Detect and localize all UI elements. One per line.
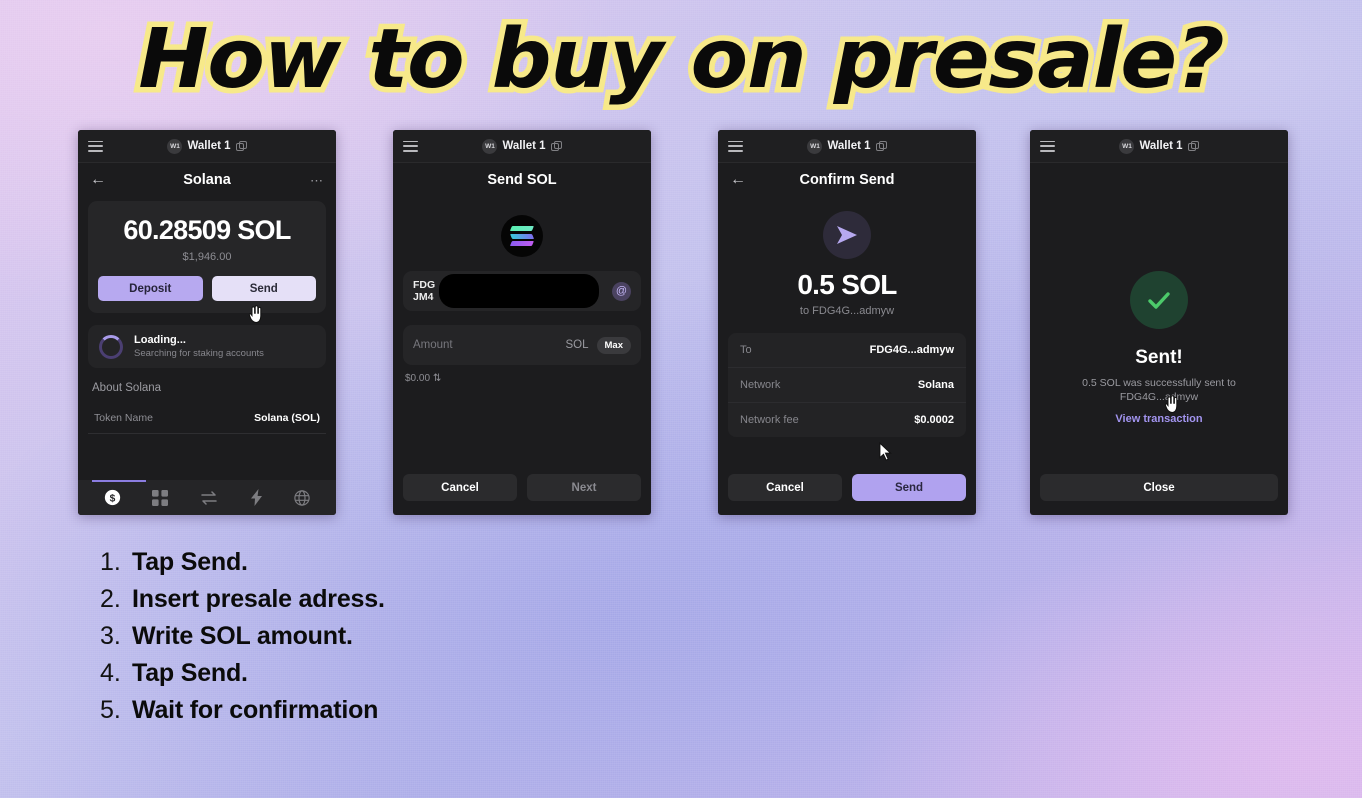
bottom-actions: Close — [1040, 474, 1278, 501]
list-item: 1. Tap Send. — [100, 548, 385, 577]
wallet-name: Wallet 1 — [502, 140, 545, 152]
detail-value: $0.0002 — [914, 414, 954, 426]
step-number: 2. — [100, 585, 132, 614]
wallet-app-bar: W1 Wallet 1 — [1030, 130, 1288, 163]
page-title: How to buy on presale? — [0, 14, 1362, 106]
wallet-name: Wallet 1 — [187, 140, 230, 152]
detail-key: Network fee — [740, 414, 799, 426]
step-text: Tap Send. — [132, 659, 248, 688]
wallet-identity: W1 Wallet 1 — [1030, 139, 1288, 154]
token-name-key: Token Name — [94, 412, 153, 424]
next-button[interactable]: Next — [527, 474, 641, 501]
list-item: 3. Write SOL amount. — [100, 622, 385, 651]
step-number: 5. — [100, 696, 132, 725]
detail-value: FDG4G...admyw — [870, 344, 954, 356]
at-icon[interactable]: @ — [612, 282, 631, 301]
step-text: Tap Send. — [132, 548, 248, 577]
step-text: Wait for confirmation — [132, 696, 378, 725]
swap-vertical-icon[interactable]: ⇅ — [433, 373, 441, 384]
recipient-address-value: FDG JM4 — [413, 279, 435, 303]
globe-icon[interactable] — [294, 490, 310, 506]
bottom-tab-bar: $ — [78, 480, 336, 515]
wallet-badge: W1 — [807, 139, 822, 154]
wallet-badge: W1 — [482, 139, 497, 154]
balance-fiat: $1,946.00 — [98, 251, 316, 263]
screen-sent-success: W1 Wallet 1 Sent! 0.5 SOL was successful… — [1030, 130, 1288, 515]
send-button[interactable]: Send — [212, 276, 317, 301]
amount-fiat-preview: $0.00 ⇅ — [405, 373, 651, 384]
wallet-app-bar: W1 Wallet 1 — [718, 130, 976, 163]
action-buttons: Deposit Send — [98, 276, 316, 301]
wallet-badge: W1 — [167, 139, 182, 154]
token-name-value: Solana (SOL) — [254, 412, 320, 424]
wallet-name: Wallet 1 — [827, 140, 870, 152]
swap-icon[interactable] — [200, 490, 218, 506]
screen-confirm-send: W1 Wallet 1 ← Confirm Send 0.5 SOL to FD… — [718, 130, 976, 515]
copy-icon[interactable] — [236, 141, 247, 152]
detail-key: To — [740, 344, 752, 356]
back-arrow-icon[interactable]: ← — [730, 172, 746, 188]
wallet-app-bar: W1 Wallet 1 — [78, 130, 336, 163]
amount-field[interactable]: Amount SOL Max — [403, 325, 641, 365]
hamburger-icon[interactable] — [1040, 141, 1055, 152]
step-number: 3. — [100, 622, 132, 651]
about-section-title: About Solana — [92, 382, 336, 394]
dollar-circle-icon[interactable]: $ — [104, 489, 121, 506]
step-number: 4. — [100, 659, 132, 688]
wallet-name: Wallet 1 — [1139, 140, 1182, 152]
cancel-button[interactable]: Cancel — [403, 474, 517, 501]
redaction-overlay — [439, 274, 599, 308]
lightning-icon[interactable] — [250, 489, 263, 506]
screen-title: Send SOL — [393, 172, 651, 188]
more-dots-icon[interactable]: ⋯ — [310, 174, 324, 187]
hamburger-icon[interactable] — [88, 141, 103, 152]
spinner-icon — [99, 335, 123, 359]
cancel-button[interactable]: Cancel — [728, 474, 842, 501]
staking-loading-card: Loading... Searching for staking account… — [88, 325, 326, 368]
detail-row-network: Network Solana — [728, 368, 966, 403]
list-item: 4. Tap Send. — [100, 659, 385, 688]
amount-unit: SOL — [566, 339, 589, 351]
detail-value: Solana — [918, 379, 954, 391]
copy-icon[interactable] — [876, 141, 887, 152]
loading-title: Loading... — [134, 334, 264, 346]
list-item: 2. Insert presale adress. — [100, 585, 385, 614]
view-transaction-link[interactable]: View transaction — [1030, 413, 1288, 425]
step-text: Write SOL amount. — [132, 622, 353, 651]
copy-icon[interactable] — [551, 141, 562, 152]
hamburger-icon[interactable] — [403, 141, 418, 152]
screen-title: Confirm Send — [718, 172, 976, 188]
loading-subtitle: Searching for staking accounts — [134, 348, 264, 359]
deposit-button[interactable]: Deposit — [98, 276, 203, 301]
arrow-cursor — [878, 442, 893, 461]
grid-icon[interactable] — [152, 490, 168, 506]
nav-bar: Send SOL — [393, 163, 651, 197]
amount-placeholder: Amount — [413, 339, 453, 351]
detail-row-network-fee: Network fee $0.0002 — [728, 403, 966, 437]
step-number: 1. — [100, 548, 132, 577]
confirm-amount-recipient: to FDG4G...admyw — [718, 305, 976, 317]
wallet-app-bar: W1 Wallet 1 — [393, 130, 651, 163]
max-button[interactable]: Max — [597, 337, 631, 354]
solana-logo-icon — [501, 215, 543, 257]
wallet-identity: W1 Wallet 1 — [393, 139, 651, 154]
screen-token-detail: W1 Wallet 1 ← Solana ⋯ 60.28509 SOL $1,9… — [78, 130, 336, 515]
token-name-row: Token Name Solana (SOL) — [88, 404, 326, 434]
detail-key: Network — [740, 379, 780, 391]
balance-card: 60.28509 SOL $1,946.00 Deposit Send — [88, 201, 326, 313]
list-item: 5. Wait for confirmation — [100, 696, 385, 725]
recipient-address-field[interactable]: FDG JM4 @ — [403, 271, 641, 311]
wallet-badge: W1 — [1119, 139, 1134, 154]
paper-plane-icon — [823, 211, 871, 259]
screen-title: Solana — [78, 172, 336, 188]
success-heading: Sent! — [1030, 347, 1288, 369]
back-arrow-icon[interactable]: ← — [90, 172, 106, 188]
step-text: Insert presale adress. — [132, 585, 385, 614]
steps-list: 1. Tap Send. 2. Insert presale adress. 3… — [100, 548, 385, 733]
close-button[interactable]: Close — [1040, 474, 1278, 501]
bottom-actions: Cancel Send — [728, 474, 966, 501]
check-icon — [1130, 271, 1188, 329]
nav-bar: ← Confirm Send — [718, 163, 976, 197]
copy-icon[interactable] — [1188, 141, 1199, 152]
hamburger-icon[interactable] — [728, 141, 743, 152]
balance-amount: 60.28509 SOL — [98, 215, 316, 246]
wallet-identity: W1 Wallet 1 — [718, 139, 976, 154]
success-message: 0.5 SOL was successfully sent to FDG4G..… — [1030, 376, 1288, 404]
svg-text:$: $ — [109, 493, 115, 504]
screen-send-sol: W1 Wallet 1 Send SOL FDG JM4 @ Amount SO… — [393, 130, 651, 515]
fiat-preview-value: $0.00 — [405, 373, 430, 384]
detail-row-to: To FDG4G...admyw — [728, 333, 966, 368]
wallet-identity: W1 Wallet 1 — [78, 139, 336, 154]
send-button[interactable]: Send — [852, 474, 966, 501]
confirm-amount: 0.5 SOL — [718, 269, 976, 301]
bottom-actions: Cancel Next — [403, 474, 641, 501]
nav-bar: ← Solana ⋯ — [78, 163, 336, 197]
